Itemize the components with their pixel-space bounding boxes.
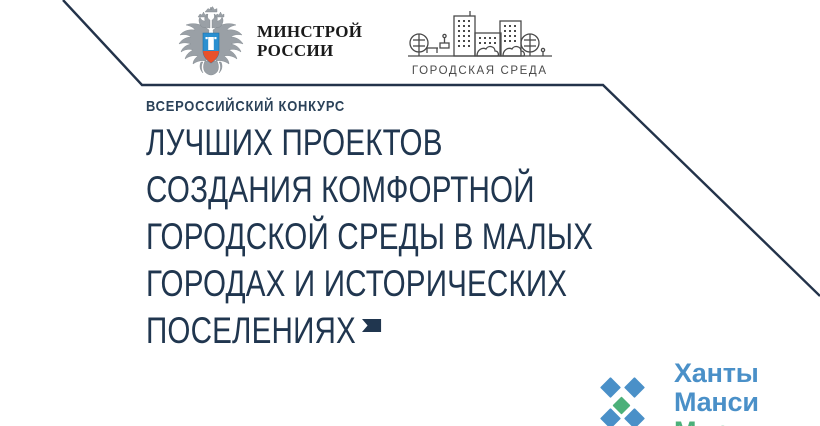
- minstroy-wordmark: МИНСТРОЙРОССИИ: [257, 22, 362, 60]
- gorodskaya-sreda-logo: ГОРОДСКАЯ СРЕДА: [402, 5, 557, 77]
- minstroy-logo: МИНСТРОЙРОССИИ: [175, 6, 362, 76]
- russian-coat-of-arms-eagle-icon: [175, 6, 247, 76]
- headline-block: ВСЕРОССИЙСКИЙ КОНКУРС ЛУЧШИХ ПРОЕКТОВ СО…: [146, 98, 616, 354]
- minstroy-line-2: РОССИИ: [257, 41, 334, 60]
- headline-line-5: ПОСЕЛЕНИЯХ: [146, 307, 522, 354]
- brand-line-1: Ханты: [674, 359, 820, 388]
- logo-strip: МИНСТРОЙРОССИИ: [175, 4, 557, 78]
- headline-line-2: СОЗДАНИЯ КОМФОРТНОЙ: [146, 166, 522, 213]
- poster-canvas: МИНСТРОЙРОССИИ: [0, 0, 820, 426]
- headline-line-4: ГОРОДАХ И ИСТОРИЧЕСКИХ: [146, 260, 522, 307]
- minstroy-line-1: МИНСТРОЙ: [257, 22, 362, 41]
- city-skyline-icon: [404, 10, 556, 62]
- headline-kicker: ВСЕРОССИЙСКИЙ КОНКУРС: [146, 98, 550, 115]
- headline-line-3: ГОРОДСКОЙ СРЕДЫ В МАЛЫХ: [146, 213, 522, 260]
- brand-line-2: Манси Мир: [674, 388, 820, 426]
- brand-line-2-part-2: Мир: [674, 416, 729, 426]
- hanty-mansi-mir-wordmark: Ханты Манси Мир: [674, 359, 820, 426]
- hanty-mansi-mir-logo[interactable]: Ханты Манси Мир: [597, 359, 820, 426]
- hanty-mansi-mir-diamond-x-icon: [597, 374, 663, 426]
- brand-line-2-part-1: Манси: [674, 387, 759, 417]
- flag-pennant-icon: [362, 319, 381, 332]
- headline-line-5-text: ПОСЕЛЕНИЯХ: [146, 310, 356, 351]
- gorodskaya-sreda-label: ГОРОДСКАЯ СРЕДА: [412, 65, 548, 77]
- headline-line-1: ЛУЧШИХ ПРОЕКТОВ: [146, 119, 522, 166]
- headline-title: ЛУЧШИХ ПРОЕКТОВ СОЗДАНИЯ КОМФОРТНОЙ ГОРО…: [146, 119, 616, 354]
